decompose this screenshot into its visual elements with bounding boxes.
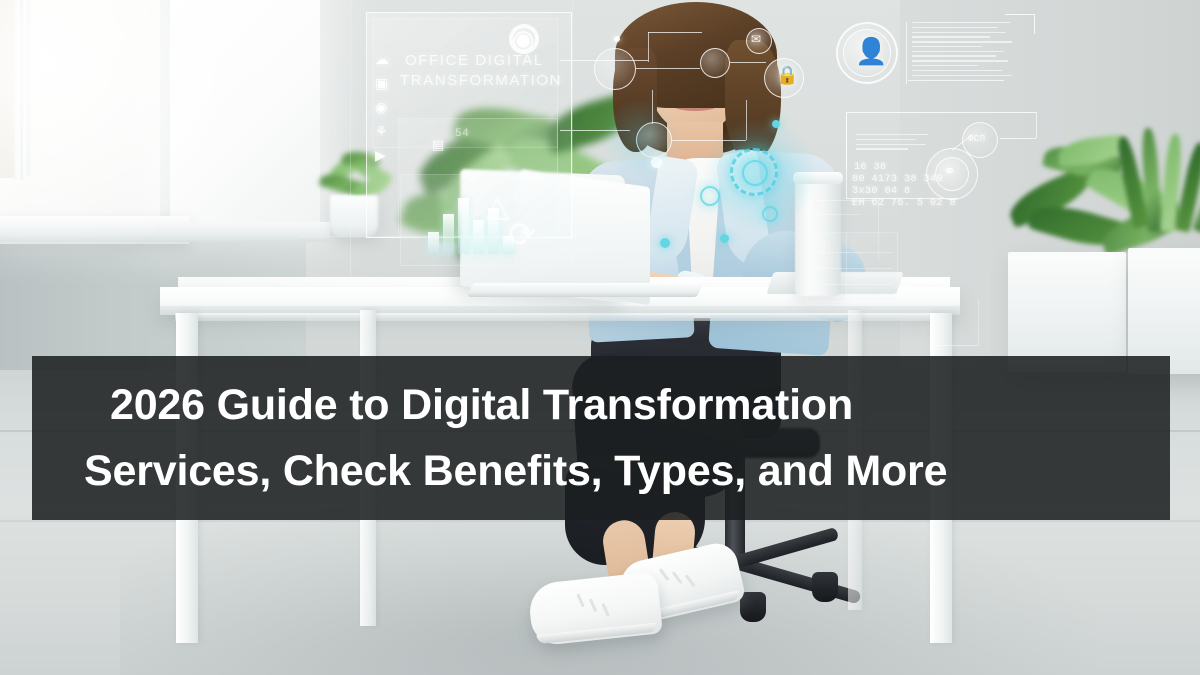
right-plant-b-leaves	[1118, 126, 1200, 254]
tumbler-cup	[795, 178, 841, 296]
person-at-desk	[555, 0, 885, 675]
sill-plant-pot	[330, 195, 378, 237]
tumbler-lid	[793, 172, 843, 184]
hero-title-line-2: Services, Check Benefits, Types, and Mor…	[84, 438, 1140, 504]
window-sill-extension	[0, 222, 330, 242]
window-secondary	[170, 0, 320, 226]
hero-banner: OFFICE DIGITAL TRANSFORMATION ☁ ▣ ◉ ⚘ ▶ …	[0, 0, 1200, 675]
hero-title-line-1: 2026 Guide to Digital Transformation	[110, 372, 1140, 438]
window-frame	[14, 0, 23, 180]
window-mullion	[26, 0, 31, 176]
title-overlay: 2026 Guide to Digital Transformation Ser…	[32, 356, 1170, 520]
right-plant-a-planter	[1008, 252, 1126, 372]
window	[0, 0, 160, 220]
laptop-keyboard	[467, 283, 703, 297]
